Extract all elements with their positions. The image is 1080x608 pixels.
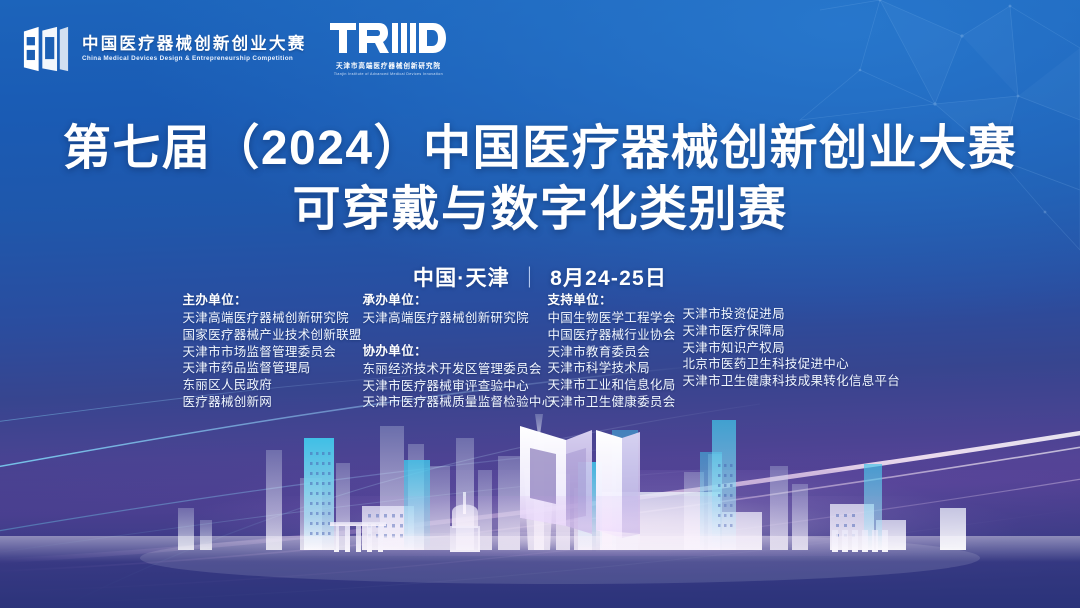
event-subtitle: 中国·天津｜8月24-25日 <box>0 262 1080 292</box>
org-item: 天津高端医疗器械创新研究院 <box>363 310 548 327</box>
organizations-block: 主办单位： 天津高端医疗器械创新研究院 国家医疗器械产业技术创新联盟 天津市市场… <box>0 289 1080 411</box>
bottom-fade <box>0 458 1080 608</box>
header-logos: 中国医疗器械创新创业大赛 China Medical Devices Desig… <box>22 22 446 76</box>
foreground-glow <box>0 496 1080 556</box>
org-item: 北京市医药卫生科技促进中心 <box>683 356 898 373</box>
org-heading-supporter: 支持单位： <box>548 289 683 308</box>
title-line-1: 第七届（2024）中国医疗器械创新创业大赛 <box>0 118 1080 179</box>
horizon-glow <box>0 470 1080 590</box>
org-item: 天津市投资促进局 <box>683 306 898 323</box>
org-heading-organizer: 主办单位： <box>183 289 363 308</box>
org-item: 东丽经济技术开发区管理委员会 <box>363 361 548 378</box>
subtitle-divider: ｜ <box>519 262 541 292</box>
org-heading-host: 承办单位： <box>363 289 548 308</box>
org-item: 天津市医疗器械质量监督检验中心 <box>363 394 548 411</box>
org-item: 天津市药品监督管理局 <box>183 360 363 377</box>
poster-banner: 中国医疗器械创新创业大赛 China Medical Devices Desig… <box>0 0 1080 608</box>
org-column-organizers: 主办单位： 天津高端医疗器械创新研究院 国家医疗器械产业技术创新联盟 天津市市场… <box>183 289 363 411</box>
org-column-supporters-continued: 天津市投资促进局 天津市医疗保障局 天津市知识产权局 北京市医药卫生科技促进中心… <box>683 289 898 411</box>
org-item: 天津市知识产权局 <box>683 340 898 357</box>
trmd-logo-icon <box>330 22 446 56</box>
org-item: 天津市医疗保障局 <box>683 323 898 340</box>
title-block: 第七届（2024）中国医疗器械创新创业大赛 可穿戴与数字化类别赛 中国·天津｜8… <box>0 118 1080 292</box>
partner-name-cn: 天津市高端医疗器械创新研究院 <box>336 60 441 70</box>
open-door-logo-icon <box>22 26 70 72</box>
org-heading-coorganizer: 协办单位： <box>363 340 548 359</box>
logo-title-cn: 中国医疗器械创新创业大赛 <box>82 36 306 53</box>
org-item: 医疗器械创新网 <box>183 394 363 411</box>
org-column-spacer <box>363 327 548 340</box>
org-item: 天津市医疗器械审评查验中心 <box>363 378 548 395</box>
event-location: 中国·天津 <box>413 267 510 290</box>
org-item: 天津高端医疗器械创新研究院 <box>183 310 363 327</box>
org-column-supporters: 支持单位： 中国生物医学工程学会 中国医疗器械行业协会 天津市教育委员会 天津市… <box>548 289 683 411</box>
org-item: 国家医疗器械产业技术创新联盟 <box>183 327 363 344</box>
logo-title-en: China Medical Devices Design & Entrepren… <box>82 56 311 62</box>
org-item: 天津市科学技术局 <box>548 360 683 377</box>
org-item: 天津市卫生健康科技成果转化信息平台 <box>683 373 898 390</box>
title-line-2: 可穿戴与数字化类别赛 <box>0 179 1080 240</box>
org-item: 中国医疗器械行业协会 <box>548 327 683 344</box>
org-item: 天津市市场监督管理委员会 <box>183 344 363 361</box>
city-skyline-decoration <box>0 408 1080 608</box>
org-item: 天津市教育委员会 <box>548 344 683 361</box>
org-item: 东丽区人民政府 <box>183 377 363 394</box>
org-item: 天津市工业和信息化局 <box>548 377 683 394</box>
org-item: 中国生物医学工程学会 <box>548 310 683 327</box>
open-door-emblem <box>520 426 640 552</box>
event-date: 8月24-25日 <box>550 267 667 290</box>
partner-name-en: Tianjin Institute of Advanced Medical De… <box>334 72 443 76</box>
partner-logo-block: 天津市高端医疗器械创新研究院 Tianjin Institute of Adva… <box>330 22 446 76</box>
org-column-hosts: 承办单位： 天津高端医疗器械创新研究院 协办单位： 东丽经济技术开发区管理委员会… <box>363 289 548 411</box>
org-item: 天津市卫生健康委员会 <box>548 394 683 411</box>
